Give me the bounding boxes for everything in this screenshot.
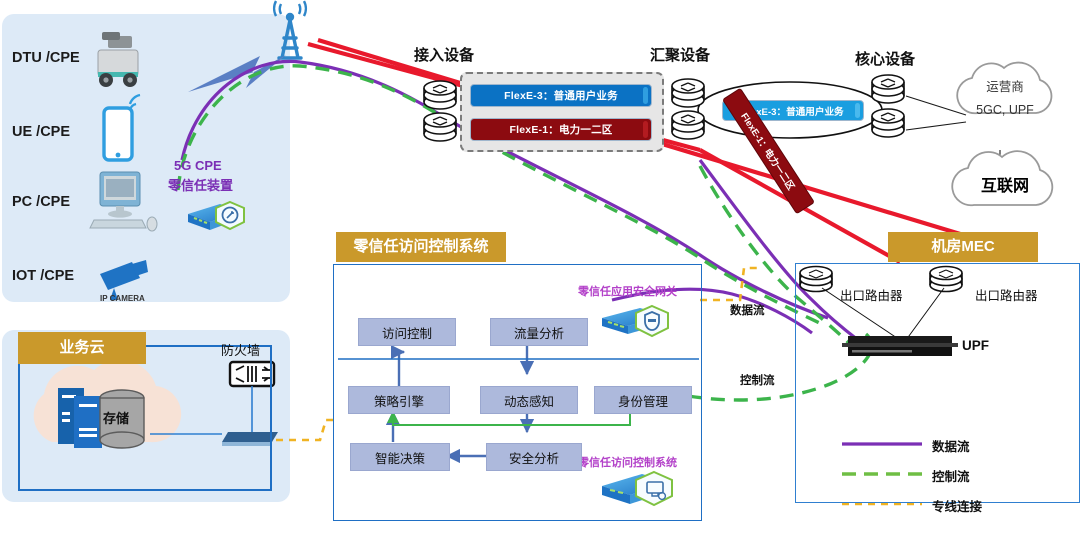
upf-label: UPF: [962, 338, 989, 353]
router-icon-agg-1: [672, 79, 704, 107]
zta-header-label: 零信任访问控制系统: [336, 232, 506, 262]
section-title-access: 接入设备: [414, 44, 474, 65]
control-flow-label: 控制流: [740, 372, 775, 388]
storage-label: 存储: [103, 408, 129, 427]
flexe-pill-access-blue: FlexE-3：普通用户业务: [470, 84, 652, 107]
cpe-device-icon: [188, 202, 244, 230]
flexe-pill-access-red: FlexE-1：电力一二区: [470, 118, 652, 141]
cpe-label-line2: 零信任装置: [168, 175, 233, 194]
router-icon-access-1: [424, 81, 456, 109]
zta-header: 零信任访问控制系统: [336, 232, 506, 262]
antenna-tower-icon: [274, 1, 306, 58]
router-icon-core-1: [872, 75, 904, 103]
legend-label-control-flow: 控制流: [932, 466, 970, 485]
internet-cloud-label: 互联网: [962, 172, 1048, 196]
business-cloud-header-label: 业务云: [18, 332, 146, 364]
terminal-label-pc: PC /CPE: [12, 194, 70, 210]
section-title-aggregation: 汇聚设备: [650, 44, 710, 65]
legend-label-leased-line: 专线连接: [932, 496, 982, 515]
firewall-label: 防火墙: [221, 340, 260, 359]
operator-cloud-line2: 5GC, UPF: [964, 103, 1046, 117]
legend-label-data-flow: 数据流: [932, 436, 970, 455]
zta-box-traffic-analysis[interactable]: 流量分析: [490, 318, 588, 346]
zta-box-intelligent-decision[interactable]: 智能决策: [350, 443, 450, 471]
section-title-core: 核心设备: [855, 48, 915, 69]
robot-icon: [98, 32, 138, 87]
data-flow-label: 数据流: [730, 302, 765, 318]
zta-box-identity-management[interactable]: 身份管理: [594, 386, 692, 414]
camera-caption: IP CAMERA: [100, 294, 145, 303]
zta-system-label: 零信任访问控制系统: [578, 454, 677, 470]
operator-cloud-line1: 运营商: [970, 76, 1040, 95]
router-icon-agg-2: [672, 111, 704, 139]
zta-box-security-analysis[interactable]: 安全分析: [486, 443, 582, 471]
zta-box-access-control[interactable]: 访问控制: [358, 318, 456, 346]
mec-header: 机房MEC: [888, 232, 1038, 262]
business-cloud-header: 业务云: [18, 332, 146, 364]
zta-gateway-label: 零信任应用安全网关: [578, 283, 677, 299]
mec-header-label: 机房MEC: [888, 232, 1038, 262]
smartphone-icon: [104, 95, 140, 160]
router-icon-access-2: [424, 113, 456, 141]
zta-box-policy-engine[interactable]: 策略引擎: [348, 386, 450, 414]
terminal-label-ue: UE /CPE: [12, 124, 70, 140]
zta-box-dynamic-awareness[interactable]: 动态感知: [480, 386, 578, 414]
terminal-label-dtu: DTU /CPE: [12, 50, 80, 66]
router-icon-core-2: [872, 109, 904, 137]
business-cloud-inner-box: [18, 345, 272, 491]
desktop-icon: [90, 172, 157, 231]
mec-router-left-label: 出口路由器: [840, 285, 903, 304]
mec-router-right-label: 出口路由器: [975, 285, 1038, 304]
diagram-canvas: DTU /CPE UE /CPE PC /CPE IOT /CPE IP CAM…: [0, 0, 1080, 533]
terminal-label-iot: IOT /CPE: [12, 268, 74, 284]
cpe-label-line1: 5G CPE: [174, 158, 222, 173]
